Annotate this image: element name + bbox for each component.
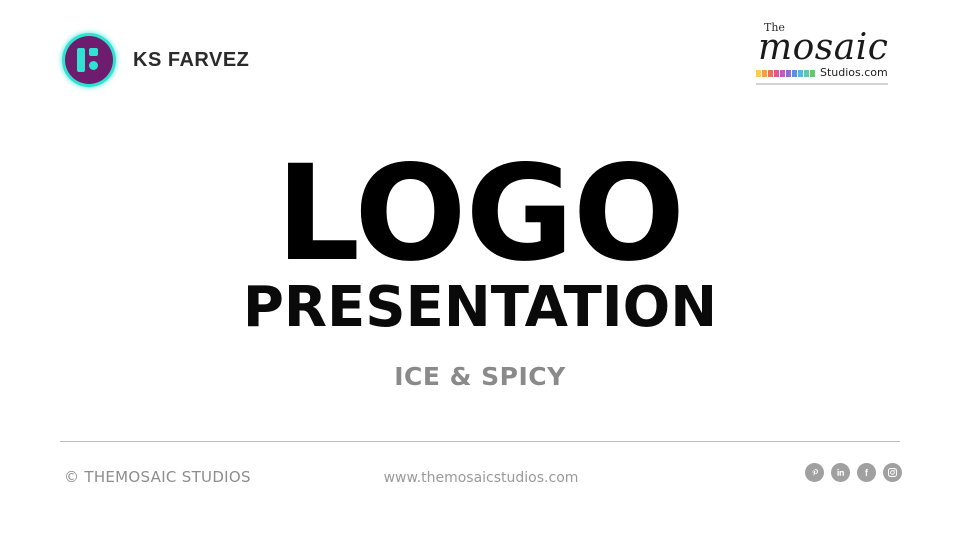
linkedin-icon[interactable]: [831, 463, 850, 482]
swatch: [756, 70, 761, 77]
mosaic-bottom-row: Studios.com: [756, 67, 902, 78]
swatch: [774, 70, 779, 77]
presentation-slide: KS FARVEZ The mosaic Studios.com LOGO P: [0, 0, 960, 540]
brand-name: KS FARVEZ: [133, 49, 249, 72]
swatch: [780, 70, 785, 77]
monogram-disc: [65, 36, 113, 84]
brand-lockup: KS FARVEZ: [62, 33, 249, 87]
swatch: [810, 70, 815, 77]
monogram-square-shape: [89, 48, 98, 56]
swatch: [786, 70, 791, 77]
mosaic-studios-logo: The mosaic Studios.com: [756, 22, 902, 85]
facebook-icon[interactable]: [857, 463, 876, 482]
mosaic-logo-rule: [756, 83, 888, 85]
page-subtitle: PRESENTATION: [0, 280, 960, 336]
swatch: [798, 70, 803, 77]
mosaic-studios-label: Studios.com: [820, 67, 888, 78]
mosaic-color-swatches: [756, 70, 815, 78]
footer: © THEMOSAIC STUDIOS www.themosaicstudios…: [60, 463, 902, 495]
monogram-dot-shape: [89, 61, 98, 70]
footer-website-link[interactable]: www.themosaicstudios.com: [60, 470, 902, 486]
swatch: [804, 70, 809, 77]
page-tagline: ICE & SPICY: [0, 362, 960, 391]
instagram-icon[interactable]: [883, 463, 902, 482]
page-title: LOGO: [0, 160, 960, 268]
ks-farvez-monogram-icon: [62, 33, 116, 87]
swatch: [762, 70, 767, 77]
headline-block: LOGO PRESENTATION ICE & SPICY: [0, 160, 960, 391]
footer-social-links: [805, 463, 902, 482]
monogram-bar-shape: [77, 48, 85, 72]
pinterest-icon[interactable]: [805, 463, 824, 482]
swatch: [768, 70, 773, 77]
footer-divider: [60, 441, 900, 442]
swatch: [792, 70, 797, 77]
mosaic-script-wordmark: mosaic: [758, 31, 902, 65]
